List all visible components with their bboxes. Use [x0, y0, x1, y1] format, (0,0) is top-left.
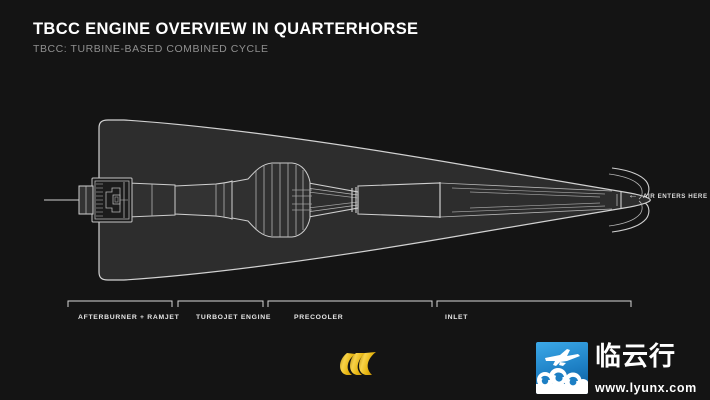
- afterburner-ramjet-duct: [128, 183, 175, 217]
- air-enters-label: AIR ENTERS HERE: [643, 193, 708, 200]
- watermark-text: 临云行 www.lyunx.com: [595, 342, 697, 395]
- section-label-afterburner-ramjet: AFTERBURNER + RAMJET: [78, 314, 179, 321]
- nozzle-assembly: [92, 178, 132, 222]
- engine-cutaway-diagram: .ol { fill:none; stroke:#cfcfcf; stroke-…: [0, 0, 710, 400]
- watermark: 临云行 www.lyunx.com: [536, 342, 697, 395]
- section-label-precooler: PRECOOLER: [294, 314, 343, 321]
- watermark-brand: 临云行: [595, 343, 697, 371]
- bracket-inlet: [437, 301, 631, 307]
- bracket-precooler: [268, 301, 432, 307]
- airplane-cloud-icon: [536, 342, 588, 394]
- exhaust-plug: [79, 186, 93, 214]
- air-enters-annotation: ← AIR ENTERS HERE: [628, 191, 708, 201]
- watermark-url: www.lyunx.com: [595, 381, 697, 395]
- section-label-inlet: INLET: [445, 314, 468, 321]
- section-brackets: [68, 301, 631, 307]
- bracket-turbojet-engine: [178, 301, 263, 307]
- hermeus-wing-logo: [331, 350, 379, 378]
- section-label-turbojet-engine: TURBOJET ENGINE: [196, 314, 271, 321]
- tailpipe-transition: [175, 181, 232, 219]
- bracket-afterburner-ramjet: [68, 301, 172, 307]
- tbcc-engine-overview-screenshot: TBCC ENGINE OVERVIEW IN QUARTERHORSE TBC…: [0, 0, 710, 400]
- left-arrow-icon: ←: [628, 191, 638, 201]
